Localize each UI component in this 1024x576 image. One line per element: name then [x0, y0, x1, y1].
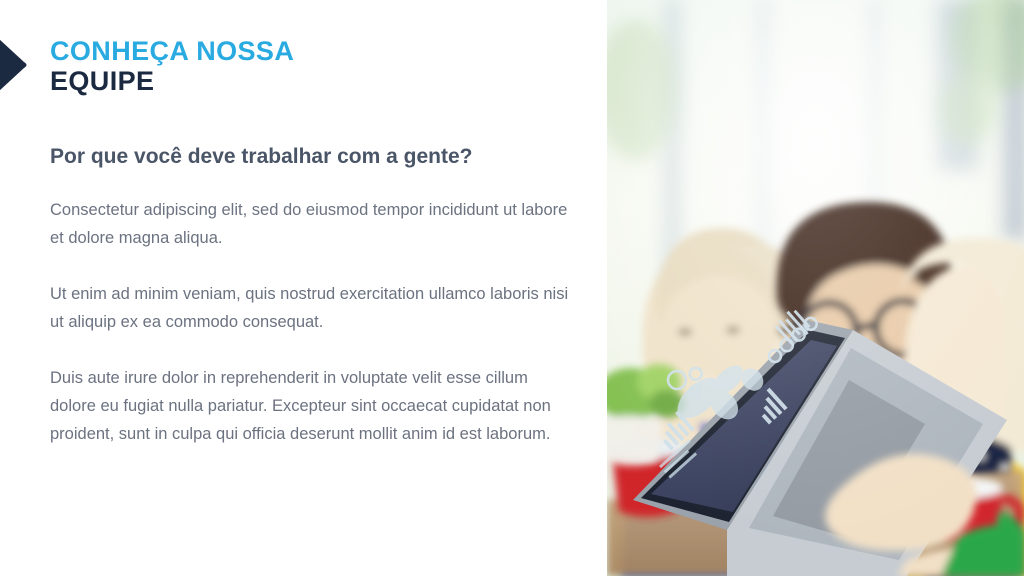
- left-content-panel: CONHEÇA NOSSA EQUIPE Por que você deve t…: [0, 0, 607, 576]
- chevron-right-marker: [0, 38, 30, 92]
- paragraph: Duis aute irure dolor in reprehenderit i…: [50, 364, 570, 448]
- paragraph: Ut enim ad minim veniam, quis nostrud ex…: [50, 280, 570, 336]
- team-photo: [607, 0, 1024, 576]
- title-line-primary: CONHEÇA NOSSA: [50, 36, 570, 66]
- title-line-secondary: EQUIPE: [50, 66, 570, 96]
- section-subheading: Por que você deve trabalhar com a gente?: [50, 144, 580, 170]
- paragraph: Consectetur adipiscing elit, sed do eius…: [50, 196, 570, 252]
- page-title: CONHEÇA NOSSA EQUIPE: [50, 36, 570, 96]
- body-copy: Consectetur adipiscing elit, sed do eius…: [50, 196, 570, 448]
- slide: CONHEÇA NOSSA EQUIPE Por que você deve t…: [0, 0, 1024, 576]
